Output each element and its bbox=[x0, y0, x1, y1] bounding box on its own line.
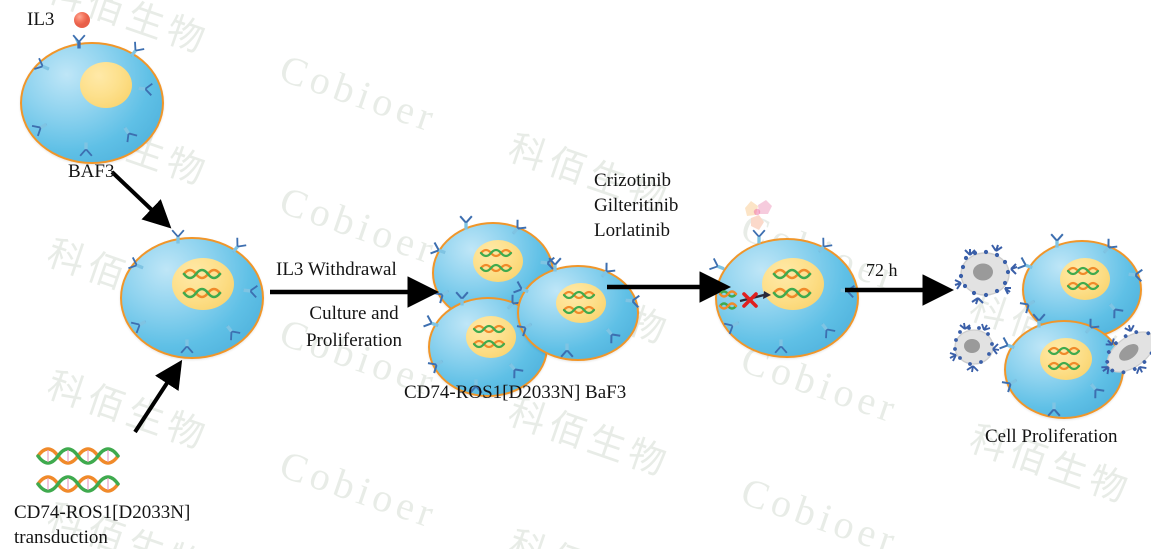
y-receptor-icon bbox=[135, 78, 157, 100]
dna-helix-icon-construct bbox=[34, 440, 126, 498]
y-receptor-icon bbox=[1029, 310, 1049, 330]
y-receptor-icon bbox=[452, 288, 472, 308]
dna-helix-icon-nucleus bbox=[472, 321, 510, 353]
dna-helix-icon-nucleus bbox=[1047, 343, 1085, 375]
y-receptor-icon bbox=[1044, 400, 1064, 420]
il3-withdrawal-label: IL3 Withdrawal bbox=[276, 258, 397, 282]
y-receptor-icon bbox=[557, 341, 577, 361]
duration-label: 72 h bbox=[866, 258, 898, 282]
y-receptor-icon bbox=[76, 140, 96, 160]
apoptotic-cell-1 bbox=[950, 243, 1020, 305]
y-receptor-icon bbox=[456, 212, 476, 232]
y-receptor-icon bbox=[177, 337, 197, 357]
arrow-baf3-to-transduced bbox=[108, 168, 170, 228]
y-receptor-icon bbox=[240, 280, 262, 302]
dna-helix-icon-nucleus bbox=[562, 288, 600, 318]
il3-label: IL3 bbox=[27, 8, 54, 32]
drug-crizotinib: Crizotinib bbox=[594, 170, 671, 191]
arrow-drug-treatment bbox=[607, 280, 717, 294]
transduction-label: CD74-ROS1[D2033N] transduction bbox=[14, 500, 244, 550]
drug-gilteritinib: Gilteritinib bbox=[594, 195, 678, 216]
cell-proliferation-label: Cell Proliferation bbox=[985, 425, 1117, 449]
y-receptor-icon bbox=[545, 254, 565, 274]
dna-helix-icon-nucleus bbox=[181, 264, 227, 304]
arrow-72h bbox=[845, 283, 940, 297]
drug-lorlatinib: Lorlatinib bbox=[594, 220, 670, 241]
y-receptor-icon bbox=[771, 337, 791, 357]
y-receptor-icon bbox=[1125, 264, 1147, 286]
drug-molecule-icon bbox=[736, 196, 778, 236]
dna-helix-icon-nucleus bbox=[479, 245, 517, 277]
y-receptor-icon bbox=[168, 226, 188, 246]
arrow-il3-withdrawal bbox=[270, 285, 425, 299]
drug-list: Crizotinib Gilteritinib Lorlatinib bbox=[594, 168, 678, 243]
dna-helix-icon-nucleus bbox=[1066, 263, 1104, 295]
culture-proliferation-label: Culture and Proliferation bbox=[289, 300, 419, 354]
red-x-block-icon bbox=[716, 286, 778, 325]
y-receptor-icon bbox=[69, 31, 89, 51]
y-receptor-icon bbox=[1047, 230, 1067, 250]
cellline-name-label: CD74-ROS1[D2033N] BaF3 bbox=[404, 381, 626, 405]
baf3-label: BAF3 bbox=[68, 160, 114, 184]
arrow-transduction bbox=[125, 370, 187, 438]
